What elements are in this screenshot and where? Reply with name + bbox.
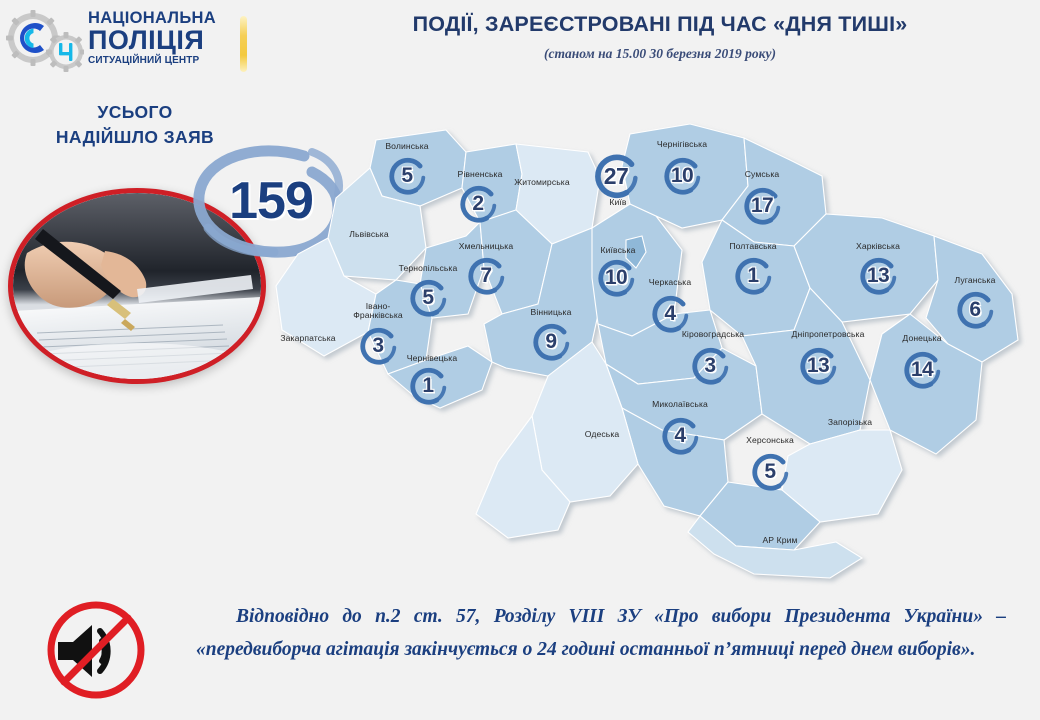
map-region-value: 2 <box>454 180 502 228</box>
map-region-value: 13 <box>794 342 842 390</box>
legal-note: Відповідно до п.2 ст. 57, Розділу VIII З… <box>196 600 1006 666</box>
map-region-label: Луганська <box>955 276 996 286</box>
map-region-value: 3 <box>354 322 402 370</box>
map-region-marker[interactable]: 5 <box>746 448 794 496</box>
map-region-marker[interactable]: 7 <box>462 252 510 300</box>
map-region-value: 5 <box>404 274 452 322</box>
map-region-value: 6 <box>951 286 999 334</box>
map-region-marker[interactable]: 3 <box>686 342 734 390</box>
header: ПОДІЇ, ЗАРЕЄСТРОВАНІ ПІД ЧАС «ДНЯ ТИШІ» … <box>300 12 1020 62</box>
map-region-label: Рівненська <box>458 170 503 180</box>
map-region-label: Сумська <box>745 170 780 180</box>
map-region-label: Миколаївська <box>652 400 708 410</box>
page-subtitle: (станом на 15.00 30 березня 2019 року) <box>300 46 1020 62</box>
logo-line-2: ПОЛІЦІЯ <box>88 26 228 54</box>
total-label-line-1: УСЬОГО <box>20 100 250 125</box>
page-title: ПОДІЇ, ЗАРЕЄСТРОВАНІ ПІД ЧАС «ДНЯ ТИШІ» <box>300 12 1020 37</box>
map-region-label: Донецька <box>902 334 941 344</box>
map-region-value: 1 <box>729 252 777 300</box>
map-region-label: Львівська <box>349 230 388 240</box>
map-region-value: 10 <box>658 152 706 200</box>
map-region-marker[interactable]: 13 <box>854 252 902 300</box>
police-logo: НАЦІОНАЛЬНА ПОЛІЦІЯ СИТУАЦІЙНИЙ ЦЕНТР <box>6 6 256 80</box>
map-region-marker[interactable]: 1 <box>729 252 777 300</box>
map-region-label: Херсонська <box>746 436 794 446</box>
map-region-value: 1 <box>404 362 452 410</box>
infographic-root: НАЦІОНАЛЬНА ПОЛІЦІЯ СИТУАЦІЙНИЙ ЦЕНТР ПО… <box>0 0 1040 720</box>
map-region-label: Запорізька <box>828 418 872 428</box>
map-region-label: Житомирська <box>514 178 569 188</box>
logo-accent-bar <box>240 16 247 72</box>
map-region-value: 4 <box>656 412 704 460</box>
map-region-marker[interactable]: 10 <box>592 254 640 302</box>
map-region-marker[interactable]: 14 <box>898 346 946 394</box>
map-region-marker[interactable]: 10 <box>658 152 706 200</box>
map-region-marker[interactable]: 6 <box>951 286 999 334</box>
map-region-label: Закарпатська <box>280 334 335 344</box>
no-sound-icon <box>44 598 148 702</box>
map-region-marker[interactable]: 3 <box>354 322 402 370</box>
ukraine-map: Волинська5Рівненська2ЖитомирськаЛьвівськ… <box>270 118 1040 586</box>
map-region-value: 5 <box>383 152 431 200</box>
map-region-label: Чернігівська <box>657 140 707 150</box>
map-region-label: Одеська <box>585 430 620 440</box>
map-region-marker[interactable]: 9 <box>527 318 575 366</box>
map-region-marker[interactable]: 2 <box>454 180 502 228</box>
map-region-value: 10 <box>592 254 640 302</box>
map-region-marker[interactable]: 5 <box>383 152 431 200</box>
map-region-value: 5 <box>746 448 794 496</box>
map-region-label: Тернопільська <box>399 264 458 274</box>
map-region-value: 14 <box>898 346 946 394</box>
map-region-value: 17 <box>738 182 786 230</box>
map-region-value: 9 <box>527 318 575 366</box>
map-region-value: 13 <box>854 252 902 300</box>
map-region-value: 7 <box>462 252 510 300</box>
map-region-value: 3 <box>686 342 734 390</box>
map-region-label: Полтавська <box>729 242 776 252</box>
gears-icon <box>6 10 84 74</box>
logo-wordmark: НАЦІОНАЛЬНА ПОЛІЦІЯ СИТУАЦІЙНИЙ ЦЕНТР <box>88 10 228 67</box>
map-region-label: Волинська <box>385 142 428 152</box>
map-region-label: Черкаська <box>649 278 691 288</box>
logo-line-3: СИТУАЦІЙНИЙ ЦЕНТР <box>88 55 228 67</box>
map-region-value: 27 <box>588 148 644 204</box>
map-region-label: Дніпропетровська <box>792 330 865 340</box>
map-region-label: Вінницька <box>531 308 572 318</box>
map-region-marker[interactable]: 5 <box>404 274 452 322</box>
map-region-label: Хмельницька <box>459 242 513 252</box>
map-region-marker[interactable]: 4 <box>656 412 704 460</box>
map-region-label: АР Крим <box>762 536 797 546</box>
map-region-label: Кіровоградська <box>682 330 744 340</box>
map-region-label: Харківська <box>856 242 900 252</box>
map-region-marker[interactable]: 27 <box>588 148 644 204</box>
map-region-marker[interactable]: 13 <box>794 342 842 390</box>
map-region-label: Івано-Франківська <box>353 302 403 321</box>
map-region-marker[interactable]: 17 <box>738 182 786 230</box>
map-region-marker[interactable]: 1 <box>404 362 452 410</box>
